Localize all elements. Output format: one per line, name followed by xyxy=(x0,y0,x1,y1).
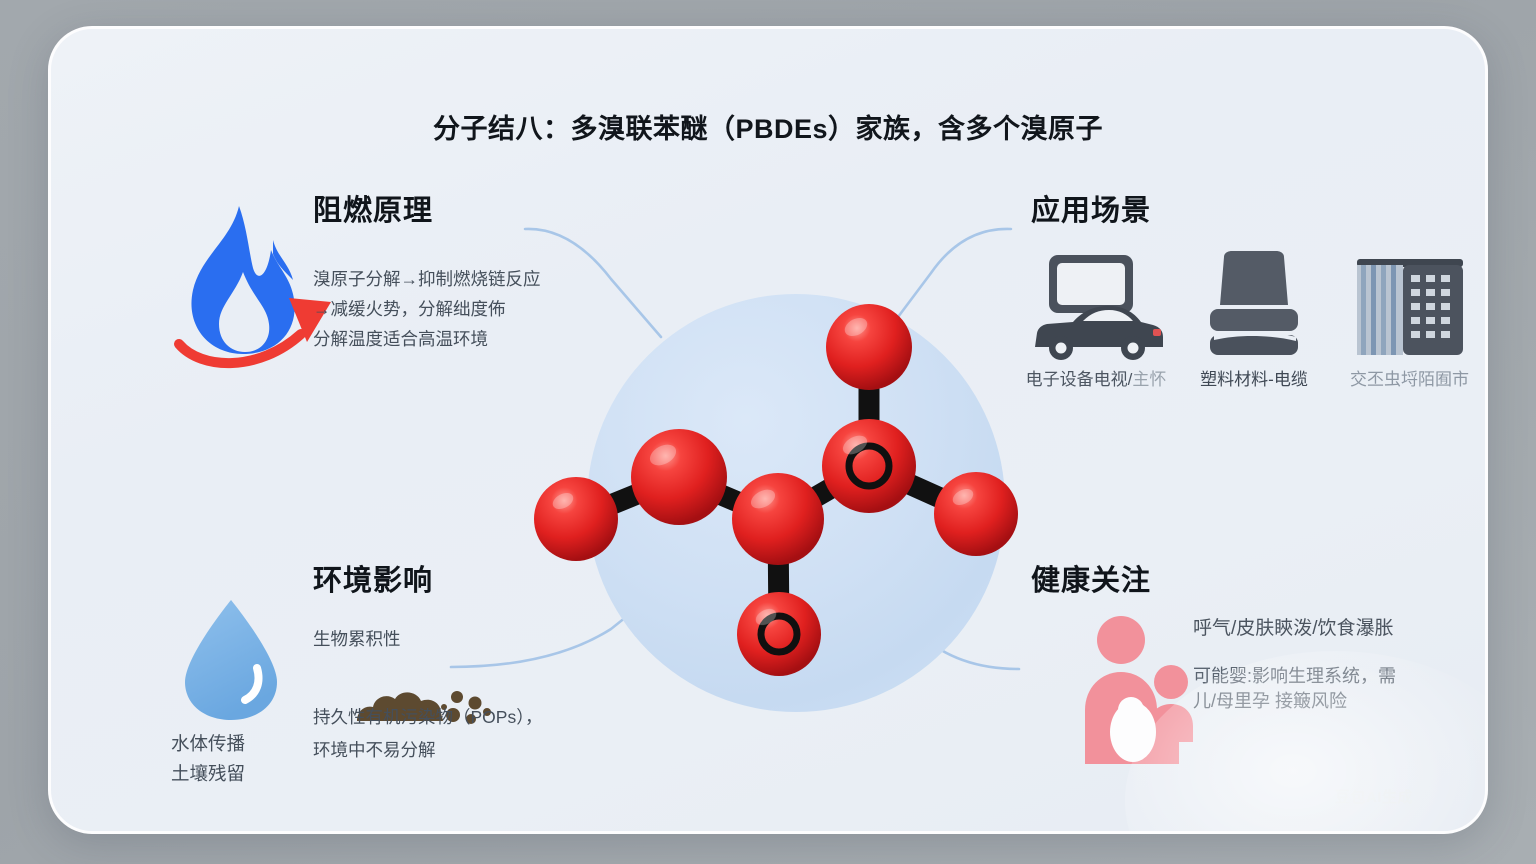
text-bioaccumulation: 生物累积性 xyxy=(313,624,401,654)
heading-flame-principle: 阻燃原理 xyxy=(313,187,433,229)
text-health-risk-b: 儿/母里孕 接簸风险 xyxy=(1193,684,1488,718)
text-pops: 持久性有机污染物（POPs）， 环境中不易分解 xyxy=(313,701,603,767)
watermark: 豆包AI生成 xyxy=(1335,786,1413,807)
seat-icon xyxy=(1179,251,1329,363)
main-card: 分子结八：多溴联苯醚（PBDEs）家族，含多个溴原子 xyxy=(48,26,1488,834)
curtain-building-icon xyxy=(1327,251,1488,363)
page-title: 分子结八：多溴联苯醚（PBDEs）家族，含多个溴原子 xyxy=(51,107,1485,146)
app-label-plastics: 塑料材料-电缆 xyxy=(1179,365,1329,390)
app-label-electronics: 电子设备电视/主怀 xyxy=(1011,365,1181,390)
mother-child-icon xyxy=(1071,614,1211,764)
heading-application: 应用场景 xyxy=(1031,187,1151,229)
water-drop-icon xyxy=(171,594,321,724)
text-flame-body: 溴原子分解→抑制燃烧链反应 →减缓火势，分解绌度佈 分解温度适合高温环境 xyxy=(313,264,613,354)
tv-car-icon xyxy=(1011,251,1181,363)
app-item-electronics: 电子设备电视/主怀 xyxy=(1011,251,1181,390)
text-health-exposure: 呼气/皮肤鿃泼/饮食瀑胀 xyxy=(1193,614,1394,644)
app-label-transport: 交丕虫埒陌囿市 xyxy=(1327,365,1488,390)
heading-environment: 环境影响 xyxy=(313,557,433,599)
application-icon-row: 电子设备电视/主怀 塑料材料-电缆 xyxy=(1011,251,1488,411)
molecule-atoms xyxy=(534,304,1018,676)
water-drop-caption: 水体传播 土壤残留 xyxy=(143,729,273,789)
app-item-plastics: 塑料材料-电缆 xyxy=(1179,251,1329,390)
infographic-stage: 分子结八：多溴联苯醚（PBDEs）家族，含多个溴原子 xyxy=(0,0,1536,864)
app-item-transport: 交丕虫埒陌囿市 xyxy=(1327,251,1488,390)
heading-health: 健康关注 xyxy=(1031,557,1151,599)
